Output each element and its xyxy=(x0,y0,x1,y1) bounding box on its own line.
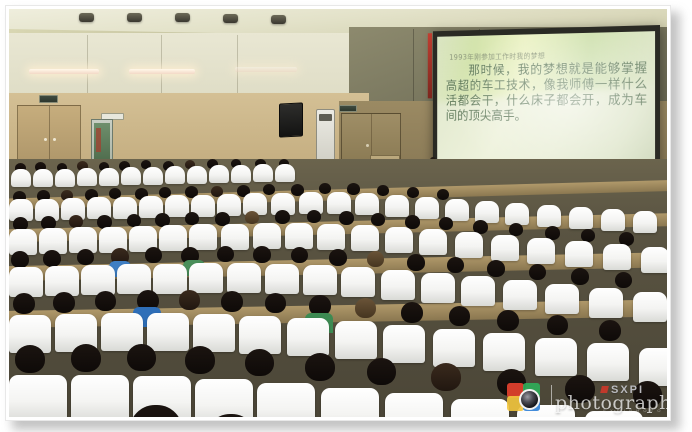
audience-head xyxy=(449,306,470,326)
auditorium-seat xyxy=(385,227,413,253)
audience-head xyxy=(509,223,523,236)
audience-head xyxy=(547,315,568,335)
auditorium-seat xyxy=(159,225,187,251)
auditorium-seat xyxy=(285,223,313,249)
auditorium-seat xyxy=(433,329,475,367)
camera-icon xyxy=(507,383,547,412)
auditorium-seat xyxy=(257,383,315,417)
audience-head xyxy=(571,268,589,285)
audience-head xyxy=(371,213,385,226)
watermark-subtitle: S X P I P H O T O xyxy=(603,408,662,413)
photo-frame: 1993年刚参加工作时我的梦想 那时候，我的梦想就是能够掌握高超的车工技术，像我… xyxy=(0,0,692,432)
auditorium-seat xyxy=(143,167,163,185)
screen-red-edge-light xyxy=(428,33,432,98)
audience-head xyxy=(367,251,384,267)
audience-head xyxy=(263,184,275,195)
audience-head xyxy=(407,254,425,271)
wall-light-fixture xyxy=(129,69,195,74)
auditorium-seat xyxy=(633,292,667,322)
door-knob xyxy=(44,138,47,141)
auditorium-seat xyxy=(569,207,593,229)
audience-head xyxy=(599,320,621,341)
auditorium-seat xyxy=(535,338,577,376)
cabinet-red-text xyxy=(96,128,101,152)
audience-head xyxy=(53,292,75,313)
auditorium-seat xyxy=(77,168,97,186)
auditorium-seat xyxy=(275,164,295,182)
audience-head xyxy=(217,246,234,262)
audience-area xyxy=(9,159,667,417)
auditorium-seat xyxy=(189,263,223,293)
ac-vent xyxy=(319,114,332,121)
auditorium-seat xyxy=(565,241,593,267)
audience-head xyxy=(447,257,464,273)
auditorium-seat xyxy=(415,197,439,219)
auditorium-seat xyxy=(419,229,447,255)
audience-head xyxy=(253,246,271,263)
audience-head xyxy=(11,251,29,268)
auditorium-seat xyxy=(335,321,377,359)
audience-head xyxy=(329,249,347,266)
audience-head xyxy=(265,293,286,313)
exit-sign xyxy=(339,105,357,112)
audience-head xyxy=(145,247,162,263)
auditorium-seat xyxy=(451,399,509,417)
auditorium-seat xyxy=(303,265,337,295)
audience-head xyxy=(319,183,331,194)
audience-head xyxy=(305,353,335,381)
wall-seam xyxy=(237,35,238,93)
auditorium-seat xyxy=(9,375,67,417)
auditorium-seat xyxy=(383,325,425,363)
audience-head xyxy=(529,264,546,280)
auditorium-seat xyxy=(589,288,623,318)
audience-head xyxy=(487,260,505,277)
audience-head xyxy=(291,247,308,263)
auditorium-seat xyxy=(587,343,629,381)
auditorium-seat xyxy=(195,379,253,417)
auditorium-seat xyxy=(537,205,561,227)
auditorium-seat xyxy=(209,165,229,183)
auditorium-seat xyxy=(321,388,379,417)
ceiling-spotlight xyxy=(175,13,190,22)
wall-light-fixture xyxy=(29,69,99,74)
photograph: 1993年刚参加工作时我的梦想 那时候，我的梦想就是能够掌握高超的车工技术，像我… xyxy=(9,9,667,417)
auditorium-seat xyxy=(81,265,115,295)
exit-sign xyxy=(39,95,58,103)
auditorium-seat xyxy=(165,166,185,184)
auditorium-seat xyxy=(153,264,187,294)
audience-head xyxy=(15,345,45,373)
audience-head xyxy=(347,183,360,195)
audience-head xyxy=(407,187,419,198)
auditorium-seat xyxy=(189,224,217,250)
door-knob xyxy=(53,138,56,141)
camera-lens-icon xyxy=(519,389,540,410)
auditorium-seat xyxy=(381,270,415,300)
audience-head xyxy=(185,346,215,374)
auditorium-seat xyxy=(385,393,443,417)
audience-head xyxy=(401,302,423,323)
auditorium-seat xyxy=(253,223,281,249)
auditorium-seat xyxy=(187,166,207,184)
auditorium-seat xyxy=(503,280,537,310)
auditorium-seat xyxy=(227,263,261,293)
ceiling-spotlight xyxy=(127,13,142,22)
audience-head xyxy=(367,358,396,385)
ceiling-spotlight xyxy=(79,13,94,22)
audience-head xyxy=(221,291,243,312)
auditorium-seat xyxy=(603,244,631,270)
audience-head xyxy=(615,272,632,288)
ceiling-spotlight xyxy=(223,14,238,23)
auditorium-seat xyxy=(253,164,273,182)
audience-head xyxy=(179,290,200,310)
auditorium-seat xyxy=(265,264,299,294)
audience-head xyxy=(245,349,274,376)
auditorium-seat xyxy=(317,224,345,250)
audience-head xyxy=(339,211,354,225)
auditorium-seat xyxy=(341,267,375,297)
auditorium-seat xyxy=(287,318,329,356)
audience-head xyxy=(245,211,259,224)
watermark-divider xyxy=(551,385,552,409)
watermark: SXPI photography S X P I P H O T O xyxy=(507,381,667,415)
audience-head xyxy=(127,344,156,371)
audience-head xyxy=(13,293,35,314)
wall-speaker xyxy=(279,102,303,137)
auditorium-seat xyxy=(11,169,31,187)
wall-seam xyxy=(161,35,162,95)
rear-wall-upper xyxy=(9,33,369,95)
audience-head xyxy=(355,298,376,318)
auditorium-seat xyxy=(355,193,379,215)
auditorium-seat xyxy=(455,232,483,258)
auditorium-seat xyxy=(461,276,495,306)
audience-head xyxy=(431,363,461,391)
auditorium-seat xyxy=(633,211,657,233)
auditorium-seat xyxy=(491,235,519,261)
auditorium-seat xyxy=(33,169,53,187)
auditorium-seat xyxy=(55,169,75,187)
auditorium-seat xyxy=(351,225,379,251)
auditorium-seat xyxy=(527,238,555,264)
auditorium-seat xyxy=(505,203,529,225)
auditorium-seat xyxy=(641,247,667,273)
audience-head xyxy=(497,310,519,331)
auditorium-seat xyxy=(421,273,455,303)
auditorium-seat xyxy=(385,195,409,217)
auditorium-seat xyxy=(99,168,119,186)
audience-head xyxy=(275,210,290,224)
audience-head xyxy=(377,185,389,196)
auditorium-seat xyxy=(483,333,525,371)
audience-head xyxy=(307,210,321,223)
audience-head xyxy=(43,250,61,267)
auditorium-seat xyxy=(71,375,129,417)
ceiling-spotlight xyxy=(271,15,286,24)
auditorium-seat xyxy=(231,165,251,183)
audience-head xyxy=(439,217,453,230)
audience-head xyxy=(71,344,101,372)
wall-seam xyxy=(87,35,88,95)
auditorium-seat xyxy=(147,313,189,351)
door-knob xyxy=(366,144,369,147)
wall-light-fixture xyxy=(235,67,297,72)
auditorium-seat xyxy=(601,209,625,231)
auditorium-seat xyxy=(545,284,579,314)
auditorium-seat xyxy=(121,167,141,185)
audience-head xyxy=(95,291,116,311)
audience-head xyxy=(437,189,449,200)
audience-head xyxy=(77,249,94,265)
